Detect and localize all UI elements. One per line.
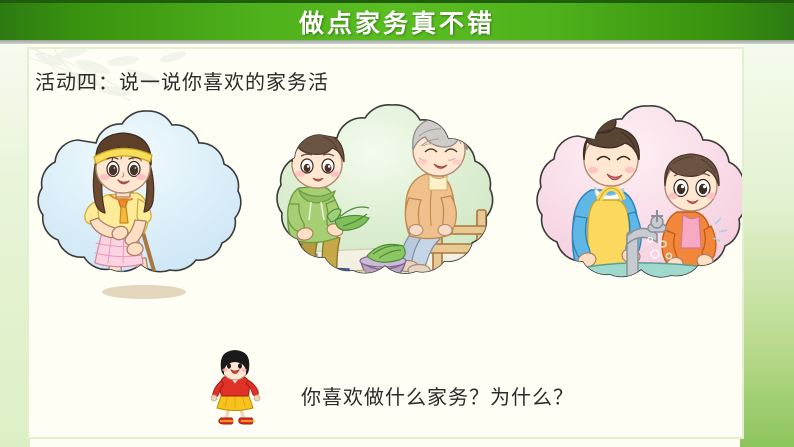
right-green-band [740, 44, 794, 447]
page-title: 做点家务真不错 [299, 4, 495, 40]
cloud-bubble-pink-icon [529, 104, 744, 324]
cartoon-girl-mascot-icon [207, 349, 263, 427]
slide-canvas: 做点家务真不错 活动四：说一说你喜欢 [0, 0, 794, 447]
slide-title-bar: 做点家务真不错 [0, 0, 794, 40]
illustration-boy-and-grandmother-vegetables [269, 104, 515, 318]
discussion-question: 你喜欢做什么家务？为什么？ [301, 381, 574, 410]
activity-subtitle: 活动四：说一说你喜欢的家务活 [35, 66, 329, 95]
cloud-bubble-blue-icon [34, 109, 256, 317]
illustration-washing-dishes [529, 104, 744, 324]
left-green-band [0, 44, 30, 447]
content-sheet: 活动四：说一说你喜欢的家务活 [27, 47, 744, 439]
illustration-girl-sweeping [34, 109, 256, 317]
cloud-bubble-green-icon [269, 104, 515, 318]
